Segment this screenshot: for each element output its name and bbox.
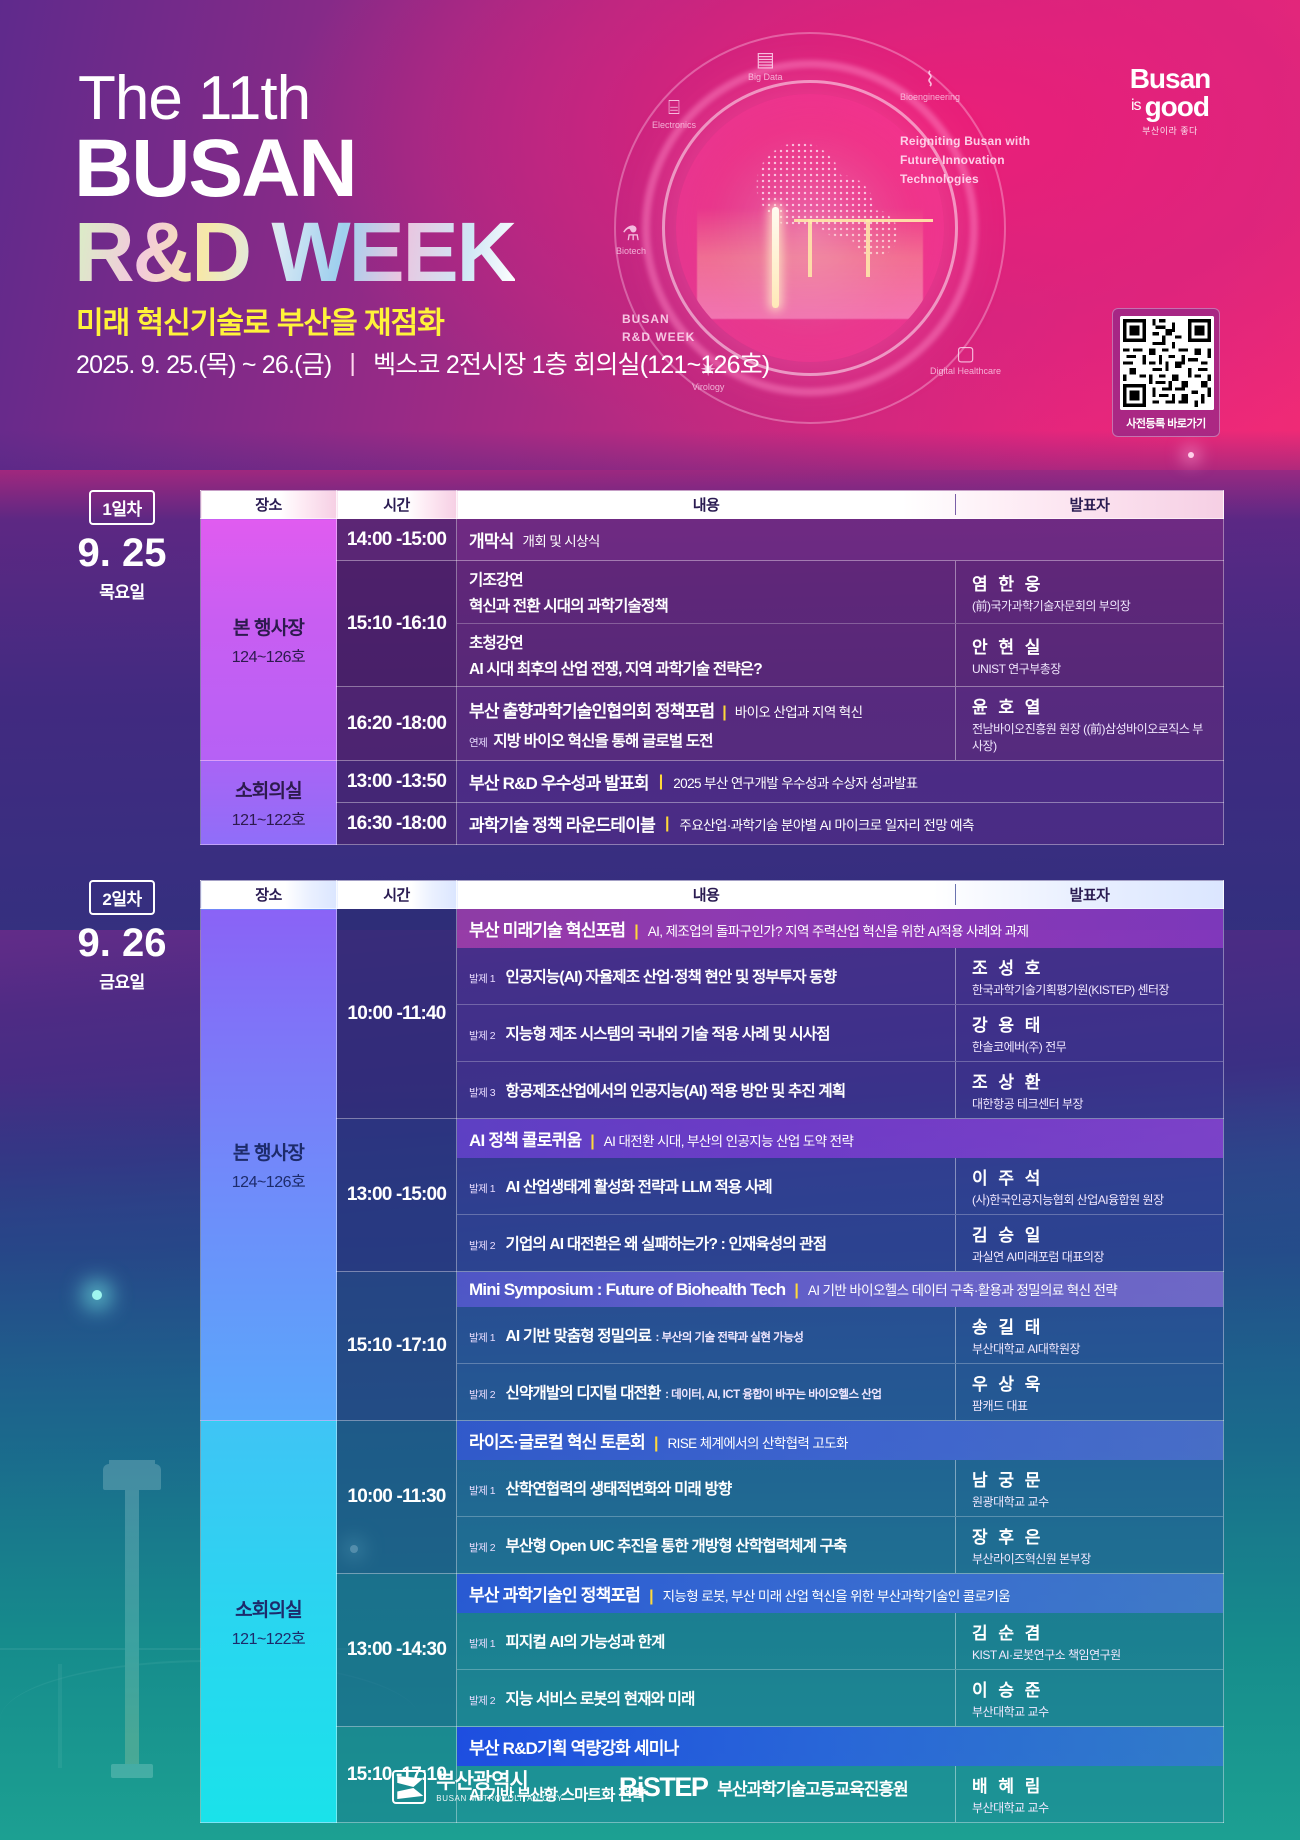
divider-bar: | — [722, 704, 726, 722]
speaker-org: UNIST 연구부총장 — [972, 660, 1213, 677]
col-header-content-speaker: 내용 발표자 — [457, 881, 1224, 909]
talk-title: 기업의 AI 대전환은 왜 실패하는가? : 인재육성의 관점 — [506, 1236, 827, 1253]
talk-number: 발제 1 — [469, 973, 495, 985]
col-header-content: 내용 — [457, 884, 955, 905]
speaker-org: 원광대학교 교수 — [972, 1493, 1213, 1510]
talk-title: 피지컬 AI의 가능성과 한계 — [506, 1634, 665, 1651]
speaker-org: (사)한국인공지능협회 산업AI융합원 원장 — [972, 1191, 1213, 1208]
day2-date-block: 2일차 9. 26 금요일 — [76, 880, 168, 993]
bioengineering-glyph: ⌇ — [925, 70, 935, 90]
day1-date: 9. 25 — [76, 533, 168, 573]
session-header: 라이즈·글로컬 혁신 토론회 | RISE 체계에서의 산학협력 고도화 — [457, 1421, 1223, 1460]
talk-title: AI 기반 맞춤형 정밀의료 — [506, 1328, 652, 1345]
place-rooms: 124~126호 — [205, 1168, 332, 1192]
place-cell: 본 행사장 124~126호 — [201, 605, 336, 675]
talk-title: 인공지능(AI) 자율제조 산업·정책 현안 및 정부투자 동향 — [506, 969, 837, 986]
talk-title: 혁신과 전환 시대의 과학기술정책 — [469, 594, 943, 616]
talk-row: 발제 1 피지컬 AI의 가능성과 한계 김 순 겸 KIST AI·로봇연구소… — [457, 1613, 1223, 1669]
day2-time-2: 13:00 -15:00 — [337, 1119, 457, 1272]
table-row: 16:30 -18:00 과학기술 정책 라운드테이블 | 주요산업·과학기술 … — [201, 803, 1224, 845]
talk-left: 발제 3 항공제조산업에서의 인공지능(AI) 적용 방안 및 추진 계획 — [457, 1072, 955, 1108]
day2-time-5: 13:00 -14:30 — [337, 1574, 457, 1727]
talk-speaker: 이 승 준 부산대학교 교수 — [955, 1670, 1223, 1726]
day1-time-1: 14:00 -15:00 — [337, 519, 457, 561]
place-name: 본 행사장 — [205, 613, 332, 640]
table-row: 15:10 -16:10 기조강연 혁신과 전환 시대의 과학기술정책 염 한 … — [201, 561, 1224, 687]
talk-row: 부산 출향과학기술인협의회 정책포럼 | 바이오 산업과 지역 혁신 연제 지방… — [457, 687, 1223, 760]
speaker-name: 이 주 석 — [972, 1164, 1213, 1189]
speaker-org: 부산라이즈혁신원 본부장 — [972, 1550, 1213, 1567]
preregistration-qr-box[interactable]: 사전등록 바로가기 — [1112, 308, 1220, 437]
talk-speaker: 김 승 일 과실연 AI미래포럼 대표의장 — [955, 1215, 1223, 1271]
session-subtitle: 개회 및 시상식 — [523, 530, 600, 550]
talk-row: 발제 2 신약개발의 디지털 대전환 : 데이터, AI, ICT 융합이 바꾸… — [457, 1363, 1223, 1420]
talk-row: 초청강연 AI 시대 최후의 산업 전쟁, 지역 과학기술 전략은? 안 현 실… — [457, 623, 1223, 686]
session-subtitle: RISE 체계에서의 산학협력 고도화 — [667, 1432, 847, 1452]
event-tagline: Reigniting Busan with Future Innovation … — [900, 132, 1070, 190]
globe-watermark-line1: BUSAN — [622, 310, 695, 328]
big-data-glyph: ▤ — [756, 50, 775, 70]
talk-row: 기조강연 혁신과 전환 시대의 과학기술정책 염 한 웅 (前)국가과학기술자문… — [457, 561, 1223, 623]
col-header-time: 시간 — [337, 491, 457, 519]
col-header-content: 내용 — [457, 494, 955, 515]
day1-session-3: 부산 출향과학기술인협의회 정책포럼 | 바이오 산업과 지역 혁신 연제 지방… — [457, 687, 1224, 761]
day2-place-main: 본 행사장 124~126호 — [201, 909, 337, 1421]
speaker-org: 한국과학기술기획평가원(KISTEP) 센터장 — [972, 981, 1213, 998]
session-title: 라이즈·글로컬 혁신 토론회 — [469, 1428, 645, 1453]
day1-badge: 1일차 — [89, 490, 154, 525]
session-subtitle: AI 기반 바이오헬스 데이터 구축·활용과 정밀의료 혁신 전략 — [808, 1279, 1117, 1299]
talk-title: 항공제조산업에서의 인공지능(AI) 적용 방안 및 추진 계획 — [506, 1083, 846, 1100]
busan-city-logo: 부산광역시 BUSAN METROPOLITAN CITY — [392, 1770, 563, 1804]
speaker-org: 부산대학교 AI대학원장 — [972, 1340, 1213, 1357]
talk-left: 발제 2 지능 서비스 로봇의 현재와 미래 — [457, 1680, 955, 1716]
day2-header-row: 장소 시간 내용 발표자 — [201, 881, 1224, 909]
digital-healthcare-label: Digital Healthcare — [930, 366, 1001, 376]
session-subtitle: 2025 부산 연구개발 우수성과 수상자 성과발표 — [673, 772, 917, 792]
session-subtitle: 지능형 로봇, 부산 미래 산업 혁신을 위한 부산과학기술인 콜로키움 — [663, 1585, 1011, 1605]
day2-badge: 2일차 — [89, 880, 154, 915]
day2-place-sub: 소회의실 121~122호 — [201, 1421, 337, 1823]
busan-city-name-ko: 부산광역시 — [436, 1771, 563, 1793]
table-row: 소회의실 121~122호 10:00 -11:30 라이즈·글로컬 혁신 토론… — [201, 1421, 1224, 1574]
poster-title-busan: BUSAN — [74, 128, 356, 210]
talk-row: 발제 1 산학연협력의 생태적변화와 미래 방향 남 궁 문 원광대학교 교수 — [457, 1460, 1223, 1516]
talk-left: 발제 1 AI 산업생태계 활성화 전략과 LLM 적용 사례 — [457, 1168, 955, 1204]
electronics-label: Electronics — [652, 120, 696, 130]
day1-session-5: 과학기술 정책 라운드테이블 | 주요산업·과학기술 분야별 AI 마이크로 일… — [457, 803, 1224, 845]
talk-title: 산학연협력의 생태적변화와 미래 방향 — [506, 1481, 732, 1498]
talk-number: 발제 2 — [469, 1542, 495, 1554]
forum-head: 부산 출향과학기술인협의회 정책포럼 | 바이오 산업과 지역 혁신 — [469, 697, 943, 722]
talk-row: 발제 1 AI 산업생태계 활성화 전략과 LLM 적용 사례 이 주 석 (사… — [457, 1158, 1223, 1214]
talk-number: 발제 2 — [469, 1695, 495, 1707]
talk-left: 발제 1 인공지능(AI) 자율제조 산업·정책 현안 및 정부투자 동향 — [457, 958, 955, 994]
day2-session-5: 부산 과학기술인 정책포럼 | 지능형 로봇, 부산 미래 산업 혁신을 위한 … — [457, 1574, 1224, 1727]
table-row: 13:00 -15:00 AI 정책 콜로퀴움 | AI 대전환 시대, 부산의… — [201, 1119, 1224, 1272]
forum-subtitle: 바이오 산업과 지역 혁신 — [735, 701, 863, 721]
divider-bar: | — [659, 773, 663, 791]
talk-left: 발제 2 부산형 Open UIC 추진을 통한 개방형 산학협력체계 구축 — [457, 1527, 955, 1563]
biotech-glyph: ⚗ — [622, 224, 640, 244]
divider-bar: | — [665, 815, 669, 833]
talk-left: 부산 출향과학기술인협의회 정책포럼 | 바이오 산업과 지역 혁신 연제 지방… — [457, 690, 955, 758]
speaker-name: 이 승 준 — [972, 1676, 1213, 1701]
day1-time-2: 15:10 -16:10 — [337, 561, 457, 687]
place-cell: 소회의실 121~122호 — [201, 768, 336, 838]
logo-line-good: isgood — [1110, 93, 1230, 121]
talk-number: 발제 1 — [469, 1638, 495, 1650]
talk-note: : 데이터, AI, ICT 융합이 바꾸는 바이오헬스 산업 — [665, 1389, 881, 1401]
session-title: 개막식 — [469, 527, 514, 552]
bioengineering-icon: ⌇ Bioengineering — [900, 70, 960, 102]
speaker-name: 조 상 환 — [972, 1068, 1213, 1093]
day2-time-1: 10:00 -11:40 — [337, 909, 457, 1119]
busan-is-good-logo: Busan isgood 부산이라 좋다 — [1110, 66, 1230, 137]
day1-session-4: 부산 R&D 우수성과 발표회 | 2025 부산 연구개발 우수성과 수상자 … — [457, 761, 1224, 803]
big-data-label: Big Data — [748, 72, 783, 82]
busan-city-mark-icon — [392, 1770, 426, 1804]
day1-dayofweek: 목요일 — [76, 578, 168, 603]
table-row: 16:20 -18:00 부산 출향과학기술인협의회 정책포럼 | 바이오 산업… — [201, 687, 1224, 761]
talk-title: AI 산업생태계 활성화 전략과 LLM 적용 사례 — [506, 1179, 772, 1196]
session-title: Mini Symposium : Future of Biohealth Tec… — [469, 1280, 785, 1300]
session-title: 부산 R&D기획 역량강화 세미나 — [469, 1734, 678, 1759]
place-rooms: 124~126호 — [205, 643, 332, 667]
speaker-org: 과실연 AI미래포럼 대표의장 — [972, 1248, 1213, 1265]
session-line: 개막식 개회 및 시상식 — [457, 519, 1223, 560]
talk-speaker: 조 상 환 대한항공 테크센터 부장 — [955, 1062, 1223, 1118]
session-subtitle: AI, 제조업의 돌파구인가? 지역 주력산업 혁신을 위한 AI적용 사례와 … — [648, 920, 1029, 940]
speaker-name: 장 후 은 — [972, 1523, 1213, 1548]
day1-header-row: 장소 시간 내용 발표자 — [201, 491, 1224, 519]
speaker-org: (前)국가과학기술자문회의 부의장 — [972, 597, 1213, 614]
col-header-speaker: 발표자 — [955, 494, 1223, 515]
big-data-icon: ▤ Big Data — [748, 50, 783, 82]
speaker-name: 남 궁 문 — [972, 1466, 1213, 1491]
qr-code-image[interactable] — [1120, 316, 1214, 410]
talk-row: 발제 1 인공지능(AI) 자율제조 산업·정책 현안 및 정부투자 동향 조 … — [457, 948, 1223, 1004]
talk-title: 신약개발의 디지털 대전환 — [506, 1385, 661, 1402]
talk-row: 발제 2 지능형 제조 시스템의 국내외 기술 적용 사례 및 시사점 강 용 … — [457, 1004, 1223, 1061]
place-name: 소회의실 — [205, 776, 332, 803]
edition-label: The 11th — [78, 68, 310, 130]
day2-time-4: 10:00 -11:30 — [337, 1421, 457, 1574]
col-header-content-speaker: 내용 발표자 — [457, 491, 1224, 519]
talk-speaker: 염 한 웅 (前)국가과학기술자문회의 부의장 — [955, 561, 1223, 623]
day1-time-5: 16:30 -18:00 — [337, 803, 457, 845]
poster-footer: 부산광역시 BUSAN METROPOLITAN CITY BiSTEP 부산과… — [0, 1770, 1300, 1804]
table-row: 본 행사장 124~126호 14:00 -15:00 개막식 개회 및 시상식 — [201, 519, 1224, 561]
talk-speaker: 김 순 겸 KIST AI·로봇연구소 책임연구원 — [955, 1613, 1223, 1669]
speaker-name: 송 길 태 — [972, 1313, 1213, 1338]
bioengineering-label: Bioengineering — [900, 92, 960, 102]
table-row: 13:00 -14:30 부산 과학기술인 정책포럼 | 지능형 로봇, 부산 … — [201, 1574, 1224, 1727]
talk-left: 발제 1 산학연협력의 생태적변화와 미래 방향 — [457, 1470, 955, 1506]
forum-title: 부산 출향과학기술인협의회 정책포럼 — [469, 697, 714, 722]
talk-speaker: 안 현 실 UNIST 연구부총장 — [955, 624, 1223, 686]
busan-city-text: 부산광역시 BUSAN METROPOLITAN CITY — [436, 1771, 563, 1802]
talk-left: 초청강연 AI 시대 최후의 산업 전쟁, 지역 과학기술 전략은? — [457, 624, 955, 686]
session-title: 부산 R&D 우수성과 발표회 — [469, 769, 649, 794]
poster-header: BUSAN R&D WEEK ▤ Big Data ⌇ Bioengineeri… — [0, 0, 1300, 470]
session-header: 부산 R&D기획 역량강화 세미나 — [457, 1727, 1223, 1766]
day1-time-4: 13:00 -13:50 — [337, 761, 457, 803]
talk-line: 연제 지방 바이오 혁신을 통해 글로벌 도전 — [469, 729, 943, 751]
talk-left: 발제 2 지능형 제조 시스템의 국내외 기술 적용 사례 및 시사점 — [457, 1015, 955, 1051]
bistep-institute-name: 부산과학기술고등교육진흥원 — [717, 1775, 907, 1800]
event-date: 2025. 9. 25.(목) ~ 26.(금) — [76, 345, 331, 381]
talk-row: 발제 2 부산형 Open UIC 추진을 통한 개방형 산학협력체계 구축 장… — [457, 1516, 1223, 1573]
speaker-name: 김 승 일 — [972, 1221, 1213, 1246]
session-title: 과학기술 정책 라운드테이블 — [469, 811, 655, 836]
session-header: AI 정책 콜로퀴움 | AI 대전환 시대, 부산의 인공지능 산업 도약 전… — [457, 1119, 1223, 1158]
talk-speaker: 이 주 석 (사)한국인공지능협회 산업AI융합원 원장 — [955, 1158, 1223, 1214]
table-row: 15:10 -17:10 Mini Symposium : Future of … — [201, 1272, 1224, 1421]
speaker-name: 조 성 호 — [972, 954, 1213, 979]
talk-speaker: 윤 호 열 전남바이오진흥원 원장 ((前)삼성바이오로직스 부사장) — [955, 687, 1223, 760]
day1-session-1: 개막식 개회 및 시상식 — [457, 519, 1224, 561]
speaker-name: 김 순 겸 — [972, 1619, 1213, 1644]
date-venue-separator: | — [345, 349, 359, 378]
globe-watermark-label: BUSAN R&D WEEK — [622, 310, 695, 346]
talk-row: 발제 2 기업의 AI 대전환은 왜 실패하는가? : 인재육성의 관점 김 승… — [457, 1214, 1223, 1271]
virology-label: Virology — [692, 382, 724, 392]
speaker-org: KIST AI·로봇연구소 책임연구원 — [972, 1646, 1213, 1663]
talk-label: 기조강연 — [469, 568, 943, 590]
talk-row: 발제 2 지능 서비스 로봇의 현재와 미래 이 승 준 부산대학교 교수 — [457, 1669, 1223, 1726]
bistep-logo: BiSTEP 부산과학기술고등교육진흥원 — [619, 1772, 908, 1803]
session-title: 부산 과학기술인 정책포럼 — [469, 1581, 640, 1606]
speaker-name: 윤 호 열 — [972, 693, 1213, 718]
place-name: 소회의실 — [205, 1595, 332, 1622]
talk-speaker: 송 길 태 부산대학교 AI대학원장 — [955, 1307, 1223, 1363]
session-header: 부산 과학기술인 정책포럼 | 지능형 로봇, 부산 미래 산업 혁신을 위한 … — [457, 1574, 1223, 1613]
col-header-speaker: 발표자 — [955, 884, 1223, 905]
digital-healthcare-glyph: ▢ — [956, 344, 975, 364]
talk-left: 발제 2 기업의 AI 대전환은 왜 실패하는가? : 인재육성의 관점 — [457, 1225, 955, 1261]
talk-number: 발제 1 — [469, 1183, 495, 1195]
speaker-org: 한솔코에버(주) 전무 — [972, 1038, 1213, 1055]
logo-word-good: good — [1145, 91, 1209, 122]
talk-number: 발제 2 — [469, 1030, 495, 1042]
talk-number: 발제 1 — [469, 1332, 495, 1344]
session-subtitle: AI 대전환 시대, 부산의 인공지능 산업 도약 전략 — [604, 1130, 854, 1150]
talk-title: 지능형 제조 시스템의 국내외 기술 적용 사례 및 시사점 — [506, 1026, 830, 1043]
event-venue: 벡스코 2전시장 1층 회의실(121~126호) — [373, 345, 769, 381]
biotech-label: Biotech — [616, 246, 646, 256]
speaker-name: 우 상 욱 — [972, 1370, 1213, 1395]
talk-left: 기조강연 혁신과 전환 시대의 과학기술정책 — [457, 561, 955, 623]
globe-watermark-line2: R&D WEEK — [622, 328, 695, 346]
day2-dayofweek: 금요일 — [76, 968, 168, 993]
table-row: 소회의실 121~122호 13:00 -13:50 부산 R&D 우수성과 발… — [201, 761, 1224, 803]
day2-table: 장소 시간 내용 발표자 본 행사장 124~126호 — [200, 880, 1224, 1823]
place-cell: 소회의실 121~122호 — [201, 1587, 336, 1657]
day1-time-3: 16:20 -18:00 — [337, 687, 457, 761]
talk-left: 발제 1 피지컬 AI의 가능성과 한계 — [457, 1623, 955, 1659]
electronics-icon: ⌸ Electronics — [652, 98, 696, 130]
day2-session-4: 라이즈·글로컬 혁신 토론회 | RISE 체계에서의 산학협력 고도화 발제 … — [457, 1421, 1224, 1574]
place-name: 본 행사장 — [205, 1138, 332, 1165]
day2-session-3: Mini Symposium : Future of Biohealth Tec… — [457, 1272, 1224, 1421]
session-title: AI 정책 콜로퀴움 — [469, 1126, 581, 1151]
session-line: 부산 R&D 우수성과 발표회 | 2025 부산 연구개발 우수성과 수상자 … — [457, 761, 1223, 802]
speaker-org: 전남바이오진흥원 원장 ((前)삼성바이오로직스 부사장) — [972, 720, 1213, 754]
day1-date-block: 1일차 9. 25 목요일 — [76, 490, 168, 603]
speaker-org: 대한항공 테크센터 부장 — [972, 1095, 1213, 1112]
talk-title: 지방 바이오 혁신을 통해 글로벌 도전 — [493, 729, 712, 751]
divider-bar: | — [590, 1133, 594, 1151]
poster-subtitle: 미래 혁신기술로 부산을 재점화 — [76, 298, 444, 342]
divider-bar: | — [654, 1435, 658, 1453]
day1-place-sub: 소회의실 121~122호 — [201, 761, 337, 845]
event-date-venue: 2025. 9. 25.(목) ~ 26.(금) | 벡스코 2전시장 1층 회… — [76, 345, 769, 381]
col-header-place: 장소 — [201, 881, 337, 909]
electronics-glyph: ⌸ — [668, 98, 680, 118]
talk-row: 발제 3 항공제조산업에서의 인공지능(AI) 적용 방안 및 추진 계획 조 … — [457, 1061, 1223, 1118]
talk-note: : 부산의 기술 전략과 실현 가능성 — [656, 1332, 804, 1344]
talk-speaker: 우 상 욱 팜캐드 대표 — [955, 1364, 1223, 1420]
poster-title-rdweek: R&D WEEK — [74, 210, 515, 294]
day2-session-1: 부산 미래기술 혁신포럼 | AI, 제조업의 돌파구인가? 지역 주력산업 혁… — [457, 909, 1224, 1119]
speaker-name: 염 한 웅 — [972, 570, 1213, 595]
table-row: 본 행사장 124~126호 10:00 -11:40 부산 미래기술 혁신포럼… — [201, 909, 1224, 1119]
busan-tower-silhouette — [125, 1470, 139, 1770]
day2-date: 9. 26 — [76, 923, 168, 963]
day2-time-3: 15:10 -17:10 — [337, 1272, 457, 1421]
col-header-time: 시간 — [337, 881, 457, 909]
divider-bar: | — [649, 1588, 653, 1606]
session-header: 부산 미래기술 혁신포럼 | AI, 제조업의 돌파구인가? 지역 주력산업 혁… — [457, 909, 1223, 948]
day1-place-main: 본 행사장 124~126호 — [201, 519, 337, 761]
session-header: Mini Symposium : Future of Biohealth Tec… — [457, 1272, 1223, 1307]
day2-session-2: AI 정책 콜로퀴움 | AI 대전환 시대, 부산의 인공지능 산업 도약 전… — [457, 1119, 1224, 1272]
session-title: 부산 미래기술 혁신포럼 — [469, 916, 625, 941]
logo-word-is: is — [1131, 97, 1141, 114]
talk-left: 발제 1 AI 기반 맞춤형 정밀의료 : 부산의 기술 전략과 실현 가능성 — [457, 1317, 955, 1353]
speaker-org: 부산대학교 교수 — [972, 1703, 1213, 1720]
day1-table: 장소 시간 내용 발표자 본 행사장 124~126호 — [200, 490, 1224, 845]
talk-speaker: 조 성 호 한국과학기술기획평가원(KISTEP) 센터장 — [955, 948, 1223, 1004]
place-rooms: 121~122호 — [205, 806, 332, 830]
talk-title: 부산형 Open UIC 추진을 통한 개방형 산학협력체계 구축 — [506, 1538, 847, 1555]
place-cell: 본 행사장 124~126호 — [201, 1130, 336, 1200]
session-subtitle: 주요산업·과학기술 분야별 AI 마이크로 일자리 전망 예측 — [679, 814, 973, 834]
talk-left: 발제 2 신약개발의 디지털 대전환 : 데이터, AI, ICT 융합이 바꾸… — [457, 1374, 955, 1410]
talk-number: 발제 3 — [469, 1087, 495, 1099]
talk-title: 지능 서비스 로봇의 현재와 미래 — [506, 1691, 695, 1708]
talk-number: 발제 2 — [469, 1389, 495, 1401]
qr-caption: 사전등록 바로가기 — [1120, 415, 1212, 431]
talk-speaker: 강 용 태 한솔코에버(주) 전무 — [955, 1005, 1223, 1061]
biotech-icon: ⚗ Biotech — [616, 224, 646, 256]
speaker-org: 팜캐드 대표 — [972, 1397, 1213, 1414]
speaker-name: 안 현 실 — [972, 633, 1213, 658]
talk-number: 연제 — [469, 735, 487, 750]
digital-healthcare-icon: ▢ Digital Healthcare — [930, 344, 1001, 376]
session-line: 과학기술 정책 라운드테이블 | 주요산업·과학기술 분야별 AI 마이크로 일… — [457, 803, 1223, 844]
place-rooms: 121~122호 — [205, 1625, 332, 1649]
talk-speaker: 남 궁 문 원광대학교 교수 — [955, 1460, 1223, 1516]
divider-bar: | — [794, 1282, 798, 1300]
talk-title: AI 시대 최후의 산업 전쟁, 지역 과학기술 전략은? — [469, 657, 943, 679]
logo-slogan-ko: 부산이라 좋다 — [1110, 124, 1230, 137]
talk-label: 초청강연 — [469, 631, 943, 653]
talk-number: 발제 2 — [469, 1240, 495, 1252]
day1-session-2: 기조강연 혁신과 전환 시대의 과학기술정책 염 한 웅 (前)국가과학기술자문… — [457, 561, 1224, 687]
globe-bridge-icon — [794, 219, 933, 271]
busan-city-name-en: BUSAN METROPOLITAN CITY — [436, 1794, 563, 1803]
talk-speaker: 장 후 은 부산라이즈혁신원 본부장 — [955, 1517, 1223, 1573]
speaker-name: 강 용 태 — [972, 1011, 1213, 1036]
talk-number: 발제 1 — [469, 1485, 495, 1497]
talk-row: 발제 1 AI 기반 맞춤형 정밀의료 : 부산의 기술 전략과 실현 가능성 … — [457, 1307, 1223, 1363]
col-header-place: 장소 — [201, 491, 337, 519]
logo-line-busan: Busan — [1110, 66, 1230, 93]
globe-tower-icon — [772, 207, 779, 309]
divider-bar: | — [634, 923, 638, 941]
bistep-wordmark: BiSTEP — [619, 1772, 708, 1803]
